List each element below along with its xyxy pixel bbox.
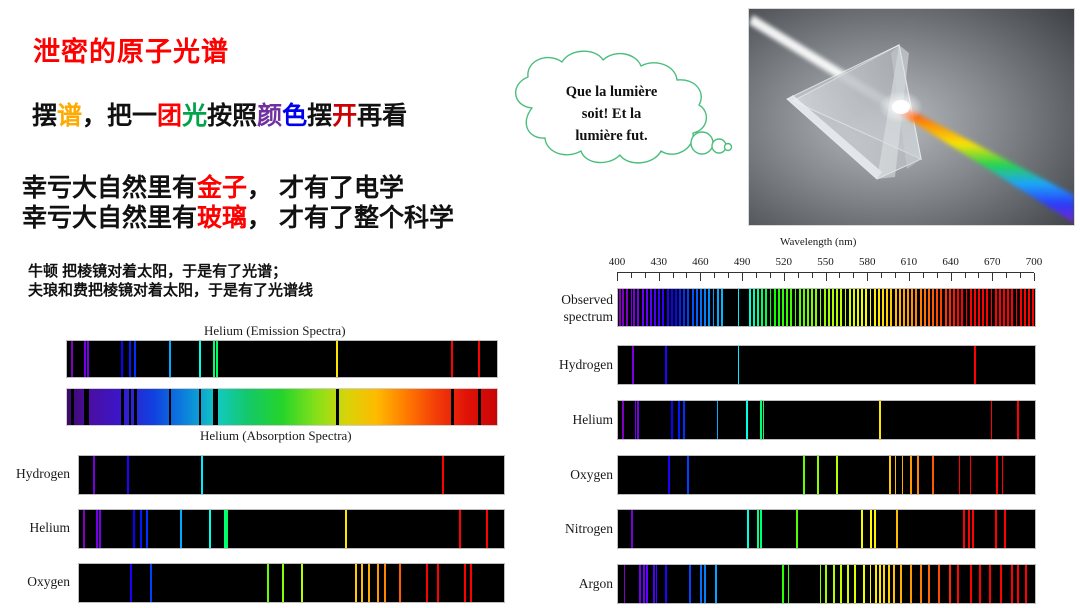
spectral-line bbox=[650, 289, 652, 326]
spectral-line bbox=[972, 510, 974, 548]
spectral-line bbox=[71, 389, 73, 425]
statement-2-seg-2: ， 才有了整个科学 bbox=[247, 204, 454, 232]
spectral-line bbox=[825, 565, 827, 603]
subtitle-seg-4: 光 bbox=[182, 102, 207, 130]
spectral-line bbox=[932, 289, 934, 326]
spectral-line bbox=[899, 289, 901, 326]
right-row-label-nitrogen: Nitrogen bbox=[540, 521, 613, 537]
spectral-line bbox=[99, 510, 101, 548]
spectral-line bbox=[882, 289, 884, 326]
axis-tick-mark bbox=[812, 273, 813, 278]
axis-tick-mark bbox=[659, 273, 660, 281]
spectral-line bbox=[642, 289, 644, 326]
axis-tick-mark bbox=[631, 273, 632, 278]
spectral-line bbox=[788, 565, 790, 603]
spectral-line bbox=[384, 564, 386, 602]
spectral-line bbox=[282, 564, 284, 602]
spectral-line bbox=[643, 565, 645, 603]
spectral-line bbox=[763, 401, 765, 439]
subtitle-seg-0: 摆 bbox=[32, 102, 57, 130]
axis-tick-mark bbox=[756, 273, 757, 278]
spectral-line bbox=[995, 289, 997, 326]
spectral-line bbox=[635, 401, 637, 439]
spectral-line bbox=[949, 565, 951, 603]
spectral-line bbox=[753, 289, 755, 326]
spectral-line bbox=[886, 289, 888, 326]
spectral-line bbox=[1007, 289, 1009, 326]
spectral-line bbox=[989, 565, 991, 603]
axis-tick-mark bbox=[937, 273, 938, 278]
spectral-line bbox=[656, 565, 658, 603]
spectral-line bbox=[757, 289, 759, 326]
spectral-line bbox=[840, 565, 842, 603]
spectral-line bbox=[749, 289, 751, 326]
spectral-line bbox=[426, 564, 428, 602]
spectral-line bbox=[770, 289, 772, 326]
spectral-line bbox=[133, 510, 135, 548]
subtitle-seg-1: 谱 bbox=[57, 102, 82, 130]
spectral-line bbox=[632, 346, 634, 384]
spectral-line bbox=[738, 346, 740, 384]
subtitle-seg-2: ，把一 bbox=[82, 102, 157, 130]
spectral-line bbox=[854, 565, 856, 603]
spectral-line bbox=[639, 565, 641, 603]
spectral-line bbox=[267, 564, 269, 602]
spectral-line bbox=[626, 289, 628, 326]
spectral-line bbox=[169, 341, 171, 377]
spectral-line bbox=[1025, 565, 1027, 603]
spectral-line bbox=[786, 289, 788, 326]
spectral-line bbox=[907, 289, 909, 326]
spectral-line bbox=[870, 510, 872, 548]
spectral-line bbox=[216, 341, 218, 377]
spectral-line bbox=[870, 565, 872, 603]
spectral-line bbox=[622, 289, 624, 326]
wavelength-axis: 400430460490520550580610640670700 bbox=[617, 256, 1034, 282]
spectral-line bbox=[910, 565, 912, 603]
spectral-line bbox=[668, 456, 670, 494]
axis-tick-mark bbox=[617, 273, 618, 281]
spectral-line bbox=[1016, 289, 1018, 326]
axis-tick-mark bbox=[673, 273, 674, 278]
spectral-line bbox=[982, 289, 984, 326]
axis-tick-mark bbox=[881, 273, 882, 278]
helium-absorption-spectrum-bar bbox=[66, 388, 498, 426]
right-spectrum-bar-argon bbox=[617, 564, 1036, 604]
spectral-line bbox=[667, 289, 669, 326]
spectral-line bbox=[970, 456, 972, 494]
axis-tick-mark bbox=[923, 273, 924, 278]
spectral-line bbox=[96, 510, 98, 548]
spectral-line bbox=[953, 289, 955, 326]
axis-tick-mark bbox=[909, 273, 910, 281]
subtitle-seg-9: 开 bbox=[332, 102, 357, 130]
spectral-line bbox=[451, 341, 453, 377]
spectral-line bbox=[928, 289, 930, 326]
spectral-line bbox=[692, 289, 694, 326]
spectral-line bbox=[336, 341, 338, 377]
spectral-line bbox=[747, 510, 749, 548]
spectral-line bbox=[700, 565, 702, 603]
axis-tick-mark bbox=[965, 273, 966, 278]
spectral-line bbox=[974, 289, 976, 326]
spectral-line bbox=[654, 289, 656, 326]
spectral-line bbox=[760, 401, 762, 439]
spectral-line bbox=[83, 510, 85, 548]
axis-tick-label: 460 bbox=[692, 256, 709, 268]
spectral-line bbox=[361, 564, 363, 602]
spectral-line bbox=[129, 341, 131, 377]
spectral-line bbox=[928, 565, 930, 603]
right-spectrum-bar-oxygen bbox=[617, 455, 1036, 495]
spectral-line bbox=[209, 510, 211, 548]
right-spectrum-bar-helium bbox=[617, 400, 1036, 440]
spectral-line bbox=[863, 565, 865, 603]
spectral-line bbox=[216, 389, 218, 425]
spectral-line bbox=[861, 510, 863, 548]
spectral-line bbox=[979, 565, 981, 603]
spectral-line bbox=[803, 289, 805, 326]
observed-label-line-2: spectrum bbox=[540, 309, 613, 326]
subtitle-seg-6: 颜 bbox=[257, 102, 282, 130]
spectral-line bbox=[895, 289, 897, 326]
spectral-line bbox=[920, 565, 922, 603]
spectral-line bbox=[146, 510, 148, 548]
spectral-line bbox=[721, 289, 723, 326]
spectral-line bbox=[478, 389, 480, 425]
spectral-line bbox=[879, 565, 881, 603]
spectral-line bbox=[646, 565, 648, 603]
spectral-line bbox=[966, 289, 968, 326]
axis-tick-mark bbox=[728, 273, 729, 278]
spectral-line bbox=[986, 289, 988, 326]
spectral-line bbox=[879, 401, 881, 439]
spectral-line bbox=[896, 510, 898, 548]
spectral-line bbox=[924, 289, 926, 326]
axis-tick-label: 610 bbox=[901, 256, 918, 268]
spectral-line bbox=[150, 564, 152, 602]
spectral-line bbox=[765, 289, 767, 326]
spectral-line bbox=[774, 289, 776, 326]
helium-emission-spectrum-bar bbox=[66, 340, 498, 378]
spectral-line bbox=[803, 456, 805, 494]
spectral-line bbox=[1002, 456, 1004, 494]
subtitle-seg-3: 团 bbox=[157, 102, 182, 130]
subtitle-seg-7: 色 bbox=[282, 102, 307, 130]
spectral-line bbox=[968, 510, 970, 548]
spectral-line bbox=[470, 564, 472, 602]
spectral-line bbox=[853, 289, 855, 326]
spectral-line bbox=[713, 289, 715, 326]
subtitle-seg-5: 按照 bbox=[207, 102, 257, 130]
spectral-line bbox=[832, 289, 834, 326]
spectral-line bbox=[646, 289, 648, 326]
spectral-line bbox=[1000, 565, 1002, 603]
spectral-line bbox=[633, 289, 635, 326]
spectral-line bbox=[678, 401, 680, 439]
spectral-line bbox=[957, 565, 959, 603]
statement-line-2: 幸亏大自然里有玻璃， 才有了整个科学 bbox=[22, 198, 454, 234]
spectral-line bbox=[129, 389, 131, 425]
axis-tick-mark bbox=[770, 273, 771, 278]
statement-2-seg-1: 玻璃 bbox=[197, 204, 247, 232]
spectral-line bbox=[399, 564, 401, 602]
spectral-line bbox=[828, 289, 830, 326]
right-row-label-argon: Argon bbox=[540, 576, 613, 592]
spectral-line bbox=[782, 565, 784, 603]
spectral-line bbox=[683, 289, 685, 326]
spectral-line bbox=[782, 289, 784, 326]
spectral-line bbox=[910, 456, 912, 494]
spectral-line bbox=[796, 510, 798, 548]
spectral-line bbox=[336, 389, 338, 425]
left-row-label-helium: Helium bbox=[0, 520, 70, 536]
axis-tick-mark bbox=[853, 273, 854, 278]
spectral-line bbox=[71, 341, 73, 377]
spectral-line bbox=[811, 289, 813, 326]
spectral-line bbox=[911, 289, 913, 326]
spectral-line bbox=[940, 289, 942, 326]
spectral-line bbox=[683, 401, 685, 439]
thought-bubble-text: Que la lumière soit! Et la lumière fut. bbox=[524, 82, 699, 147]
axis-tick-mark bbox=[645, 273, 646, 278]
spectral-line bbox=[870, 289, 872, 326]
axis-tick-mark bbox=[826, 273, 827, 281]
spectral-line bbox=[717, 401, 719, 439]
spectral-line bbox=[845, 289, 847, 326]
subtitle-seg-10: 再看 bbox=[357, 102, 407, 130]
thought-bubble: Que la lumière soit! Et la lumière fut. bbox=[496, 46, 761, 176]
spectral-line bbox=[671, 289, 673, 326]
spectral-line bbox=[824, 289, 826, 326]
spectral-line bbox=[700, 289, 702, 326]
right-row-label-helium: Helium bbox=[540, 412, 613, 428]
spectral-line bbox=[970, 565, 972, 603]
prism-dispersion-image bbox=[748, 8, 1075, 226]
axis-tick-mark bbox=[839, 273, 840, 278]
spectral-line bbox=[746, 401, 748, 439]
observed-label-line-1: Observed bbox=[540, 292, 613, 309]
spectral-line bbox=[121, 389, 123, 425]
spectral-line bbox=[857, 289, 859, 326]
spectral-line bbox=[757, 510, 759, 548]
spectral-line bbox=[817, 456, 819, 494]
spectral-line bbox=[1017, 401, 1019, 439]
axis-tick-mark bbox=[714, 273, 715, 278]
spectral-line bbox=[970, 289, 972, 326]
spectral-line bbox=[169, 389, 171, 425]
spectral-line bbox=[631, 510, 633, 548]
spectral-line bbox=[888, 565, 890, 603]
left-row-label-oxygen: Oxygen bbox=[0, 574, 70, 590]
axis-tick-label: 400 bbox=[609, 256, 626, 268]
bubble-line-2: soit! Et la bbox=[524, 104, 699, 126]
statement-2-seg-0: 幸亏大自然里有 bbox=[22, 204, 197, 232]
spectral-line bbox=[938, 565, 940, 603]
spectral-line bbox=[902, 456, 904, 494]
spectral-line bbox=[900, 565, 902, 603]
spectral-line bbox=[134, 389, 136, 425]
spectral-line bbox=[815, 289, 817, 326]
spectral-line bbox=[799, 289, 801, 326]
axis-tick-label: 430 bbox=[650, 256, 667, 268]
bubble-line-1: Que la lumière bbox=[524, 82, 699, 104]
spectral-line bbox=[130, 564, 132, 602]
spectral-line bbox=[1024, 289, 1026, 326]
spectral-line bbox=[978, 289, 980, 326]
spectral-line bbox=[224, 510, 226, 548]
spectral-line bbox=[437, 564, 439, 602]
spectral-line bbox=[790, 289, 792, 326]
spectral-line bbox=[996, 456, 998, 494]
spectral-line bbox=[778, 289, 780, 326]
spectral-line bbox=[949, 289, 951, 326]
absorption-spectra-caption: Helium (Absorption Spectra) bbox=[200, 428, 352, 444]
spectral-line bbox=[355, 564, 357, 602]
spectral-line bbox=[717, 289, 719, 326]
right-row-label-oxygen: Oxygen bbox=[540, 467, 613, 483]
spectral-line bbox=[1028, 289, 1030, 326]
axis-tick-mark bbox=[867, 273, 868, 281]
spectral-line bbox=[945, 289, 947, 326]
emission-spectra-caption: Helium (Emission Spectra) bbox=[204, 323, 346, 339]
axis-tick-label: 490 bbox=[734, 256, 751, 268]
spectral-line bbox=[836, 289, 838, 326]
left-row-label-hydrogen: Hydrogen bbox=[0, 466, 70, 482]
spectral-line bbox=[715, 565, 717, 603]
axis-tick-mark bbox=[951, 273, 952, 281]
page-title: 泄密的原子光谱 bbox=[33, 30, 229, 69]
axis-tick-mark bbox=[700, 273, 701, 281]
spectral-line bbox=[140, 510, 142, 548]
axis-tick-label: 670 bbox=[984, 256, 1001, 268]
spectral-line bbox=[893, 565, 895, 603]
spectral-line bbox=[696, 289, 698, 326]
axis-tick-mark bbox=[992, 273, 993, 281]
spectral-line bbox=[1032, 289, 1034, 326]
spectral-line bbox=[301, 564, 303, 602]
spectral-line bbox=[915, 289, 917, 326]
spectral-line bbox=[675, 289, 677, 326]
spectral-line bbox=[689, 565, 691, 603]
spectral-line bbox=[836, 456, 838, 494]
spectral-line bbox=[631, 289, 633, 326]
spectral-line bbox=[687, 289, 689, 326]
spectral-line bbox=[671, 401, 673, 439]
spectral-line bbox=[903, 289, 905, 326]
spectral-line bbox=[451, 389, 453, 425]
spectral-line bbox=[1004, 510, 1006, 548]
spectral-line bbox=[883, 565, 885, 603]
fraunhofer-note-line-2: 夫琅和费把棱镜对着太阳，于是有了光谱线 bbox=[28, 279, 313, 300]
axis-tick-label: 700 bbox=[1026, 256, 1043, 268]
spectral-line bbox=[999, 289, 1001, 326]
spectral-line bbox=[761, 289, 763, 326]
axis-tick-mark bbox=[1006, 273, 1007, 278]
spectral-line bbox=[199, 389, 201, 425]
spectral-line bbox=[889, 456, 891, 494]
spectral-line bbox=[213, 341, 215, 377]
spectral-line bbox=[653, 565, 655, 603]
spectral-line bbox=[687, 456, 689, 494]
slide-canvas: 泄密的原子光谱 摆谱，把一团光按照颜色摆开再看 幸亏大自然里有金子， 才有了电学… bbox=[0, 0, 1080, 608]
axis-tick-mark bbox=[784, 273, 785, 281]
spectral-line bbox=[704, 289, 706, 326]
spectral-line bbox=[87, 389, 89, 425]
spectral-line bbox=[1003, 289, 1005, 326]
spectral-line bbox=[849, 289, 851, 326]
spectral-line bbox=[464, 564, 466, 602]
spectral-line bbox=[957, 289, 959, 326]
spectral-line bbox=[807, 289, 809, 326]
newton-note-line-1: 牛顿 把棱镜对着太阳，于是有了光谱； bbox=[28, 260, 287, 281]
axis-tick-mark bbox=[978, 273, 979, 278]
spectral-line bbox=[991, 289, 993, 326]
spectral-line bbox=[861, 289, 863, 326]
spectral-line bbox=[87, 341, 89, 377]
spectral-line bbox=[704, 565, 706, 603]
spectral-line bbox=[874, 289, 876, 326]
right-row-label-observed-spectrum: Observed spectrum bbox=[540, 292, 613, 326]
spectral-line bbox=[959, 456, 961, 494]
axis-tick-mark bbox=[895, 273, 896, 278]
spectral-line bbox=[878, 289, 880, 326]
right-row-label-hydrogen: Hydrogen bbox=[540, 357, 613, 373]
spectral-line bbox=[658, 289, 660, 326]
spectral-line bbox=[1020, 289, 1022, 326]
spectral-line bbox=[974, 346, 976, 384]
spectral-line bbox=[875, 565, 877, 603]
spectral-line bbox=[624, 565, 626, 603]
subtitle-seg-8: 摆 bbox=[307, 102, 332, 130]
spectral-line bbox=[121, 341, 123, 377]
spectral-line bbox=[1011, 289, 1013, 326]
spectral-line bbox=[820, 289, 822, 326]
spectral-line bbox=[619, 289, 621, 326]
spectral-line bbox=[1017, 565, 1019, 603]
spectral-line bbox=[917, 456, 919, 494]
spectral-line bbox=[932, 456, 934, 494]
spectral-line bbox=[93, 456, 95, 494]
axis-tick-mark bbox=[742, 273, 743, 281]
spectral-line bbox=[226, 510, 228, 548]
spectral-line bbox=[708, 289, 710, 326]
spectral-line bbox=[833, 565, 835, 603]
spectral-line bbox=[963, 510, 965, 548]
spectral-line bbox=[795, 289, 797, 326]
spectral-line bbox=[201, 456, 203, 494]
spectral-line bbox=[377, 564, 379, 602]
axis-tick-label: 580 bbox=[859, 256, 876, 268]
spectral-line bbox=[459, 510, 461, 548]
spectral-line bbox=[1011, 565, 1013, 603]
spectral-line bbox=[486, 510, 488, 548]
spectral-line bbox=[478, 341, 480, 377]
axis-tick-mark bbox=[1020, 273, 1021, 278]
axis-tick-mark bbox=[1034, 273, 1035, 281]
right-spectrum-bar-observed bbox=[617, 288, 1036, 327]
spectral-line bbox=[865, 289, 867, 326]
spectral-line bbox=[199, 341, 201, 377]
axis-tick-label: 640 bbox=[942, 256, 959, 268]
spectral-line bbox=[662, 289, 664, 326]
spectral-line bbox=[895, 456, 897, 494]
wavelength-axis-title: Wavelength (nm) bbox=[780, 236, 856, 248]
bubble-line-3: lumière fut. bbox=[524, 126, 699, 148]
spectral-line bbox=[760, 510, 762, 548]
spectral-line bbox=[995, 510, 997, 548]
spectral-line bbox=[637, 289, 639, 326]
